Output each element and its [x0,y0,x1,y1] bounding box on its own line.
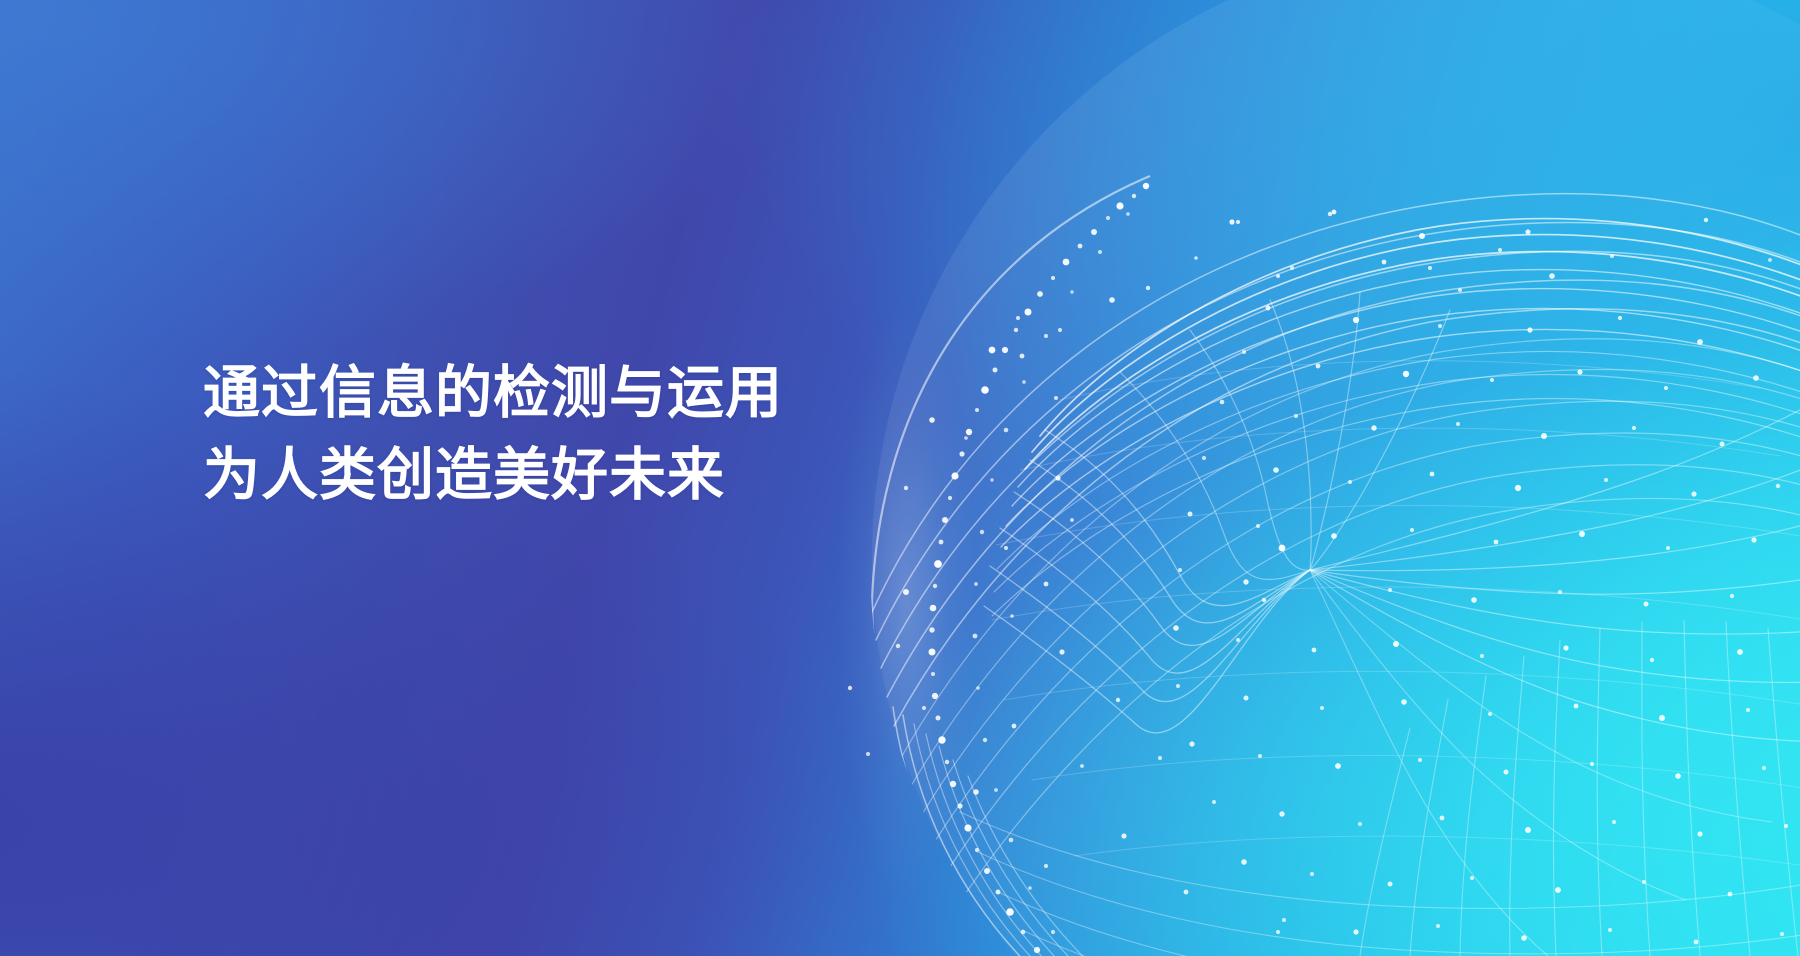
headline-block: 通过信息的检测与运用 为人类创造美好未来 [203,352,783,516]
headline-line-2: 为人类创造美好未来 [203,434,783,516]
hero-banner: 通过信息的检测与运用 为人类创造美好未来 [0,0,1800,956]
globe-limb-dots [929,183,1150,953]
globe-interior-dots [1173,212,1788,945]
globe-outer-dots [848,210,1772,934]
headline-line-1: 通过信息的检测与运用 [203,352,783,434]
